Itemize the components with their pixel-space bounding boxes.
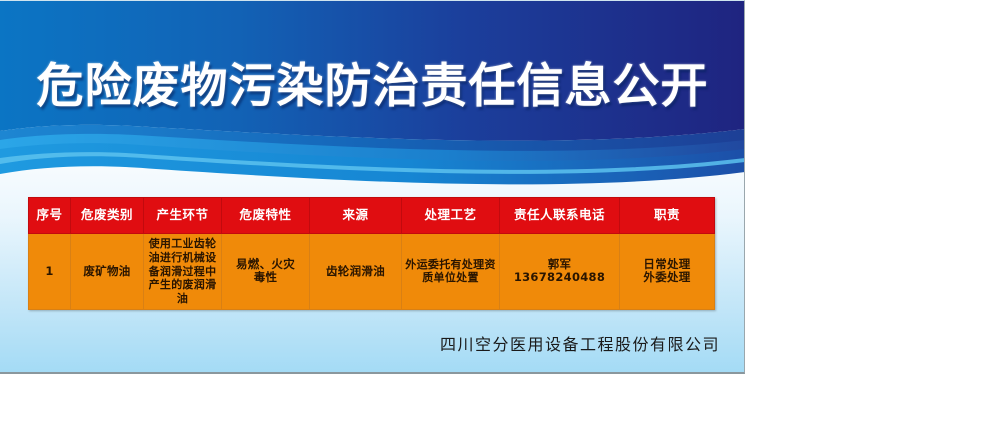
- duty-line-1: 日常处理: [622, 258, 712, 272]
- company-name: 四川空分医用设备工程股份有限公司: [0, 331, 720, 355]
- column-header-source: 来源: [310, 198, 402, 234]
- column-header-treatment: 处理工艺: [402, 198, 500, 234]
- column-header-phone: 责任人联系电话: [500, 198, 620, 234]
- hazard-property-line-1: 易燃、火灾: [224, 258, 307, 272]
- column-header-category: 危废类别: [71, 198, 144, 234]
- page-title: 危险废物污染防治责任信息公开: [0, 47, 745, 116]
- responsible-person-name: 郭军: [502, 258, 617, 272]
- cell-treatment-process: 外运委托有处理资质单位处置: [402, 234, 500, 310]
- column-header-index: 序号: [29, 198, 71, 234]
- column-header-property: 危废特性: [222, 198, 310, 234]
- table-row: 1 废矿物油 使用工业齿轮油进行机械设备润滑过程中产生的废润滑油 易燃、火灾 毒…: [29, 234, 715, 310]
- hazardous-waste-table: 序号 危废类别 产生环节 危废特性 来源 处理工艺 责任人联系电话 职责 1 废…: [28, 197, 715, 310]
- table-header-row: 序号 危废类别 产生环节 危废特性 来源 处理工艺 责任人联系电话 职责: [29, 198, 715, 234]
- column-header-duty: 职责: [620, 198, 715, 234]
- cell-generation-stage: 使用工业齿轮油进行机械设备润滑过程中产生的废润滑油: [144, 234, 222, 310]
- responsible-person-phone: 13678240488: [502, 271, 617, 285]
- hazard-property-line-2: 毒性: [224, 271, 307, 285]
- cell-hazard-property: 易燃、火灾 毒性: [222, 234, 310, 310]
- cell-duty: 日常处理 外委处理: [620, 234, 715, 310]
- poster-container: 危险废物污染防治责任信息公开 序号 危废类别 产生环节 危废特性 来源 处理工艺…: [0, 0, 745, 374]
- cell-responsible-contact: 郭军 13678240488: [500, 234, 620, 310]
- cell-index: 1: [29, 234, 71, 310]
- cell-category: 废矿物油: [71, 234, 144, 310]
- duty-line-2: 外委处理: [622, 271, 712, 285]
- cell-source: 齿轮润滑油: [310, 234, 402, 310]
- column-header-stage: 产生环节: [144, 198, 222, 234]
